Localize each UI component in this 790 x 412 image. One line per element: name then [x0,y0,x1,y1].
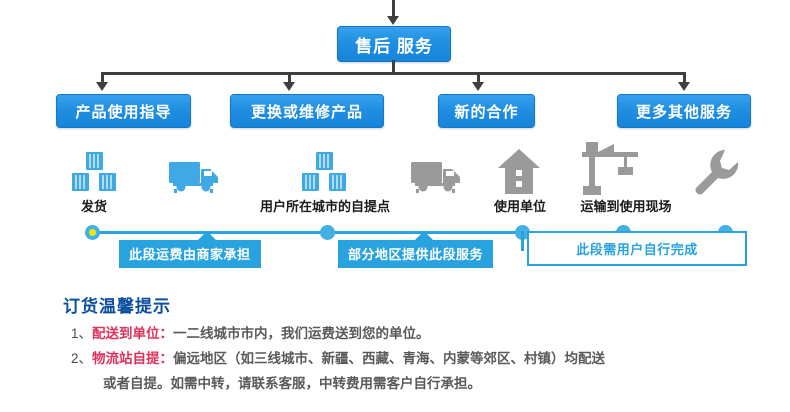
flow-bus-line [101,72,685,75]
timeline-dot-start[interactable] [85,225,100,240]
flow-arrow-3-icon [472,82,484,91]
boxes-icon [70,150,118,194]
note-1-number: 1、 [71,326,92,341]
flow-node-more-services[interactable]: 更多其他服务 [617,94,751,128]
boxes-icon [300,150,348,194]
crane-icon [580,142,644,196]
house-icon [497,148,541,196]
flow-node-replace-or-repair[interactable]: 更换或维修产品 [230,94,384,128]
note-1-body: 一二线城市市内，我们运费送到您的单位。 [173,326,430,341]
truck-icon [410,158,466,194]
after-sales-service-infographic: 售后 服务 产品使用指导 更换或维修产品 新的合作 更多其他服务 [0,0,790,412]
truck-icon [168,158,224,194]
note-2-body: 偏远地区（如三线城市、新疆、西藏、青海、内蒙等郊区、村镇）均配送 [173,351,605,366]
flow-arrow-4-icon [678,82,690,91]
note-1-key: 配送到单位： [92,326,173,341]
note-item-2: 2、物流站自提：偏远地区（如三线城市、新疆、西藏、青海、内蒙等郊区、村镇）均配送 [71,347,605,367]
stage-label-shipping: 发货 [64,196,124,215]
timeline-dot-2[interactable] [320,225,335,240]
wrench-icon [692,148,740,196]
stage-label-pickup-point: 用户所在城市的自提点 [249,196,401,215]
segment-label-user-completes[interactable]: 此段需用户自行完成 [527,231,747,266]
segment-notch-2 [415,231,433,240]
flow-node-product-usage-guide[interactable]: 产品使用指导 [56,94,191,128]
flow-node-new-cooperation[interactable]: 新的合作 [438,94,535,128]
segment-label-merchant-pays-freight[interactable]: 此段运费由商家承担 [119,240,261,268]
root-top-arrow-icon [387,16,399,25]
note-item-1: 1、配送到单位：一二线城市市内，我们运费送到您的单位。 [71,322,430,342]
note-item-2-continued: 或者自提。如需中转，请联系客服，中转费用需客户自行承担。 [103,372,481,392]
stage-label-using-unit: 使用单位 [489,196,551,215]
note-2-key: 物流站自提： [92,351,173,366]
timeline-tick-left [521,231,524,251]
segment-label-partial-region-service[interactable]: 部分地区提供此段服务 [338,240,493,268]
flow-arrow-1-icon [96,82,108,91]
flow-node-root[interactable]: 售后 服务 [337,26,451,62]
flow-arrow-2-icon [283,82,295,91]
note-2-number: 2、 [71,351,92,366]
stage-label-transport-to-site: 运输到使用现场 [566,196,686,215]
notes-title: 订货温馨提示 [63,292,171,317]
segment-notch-1 [198,231,216,240]
